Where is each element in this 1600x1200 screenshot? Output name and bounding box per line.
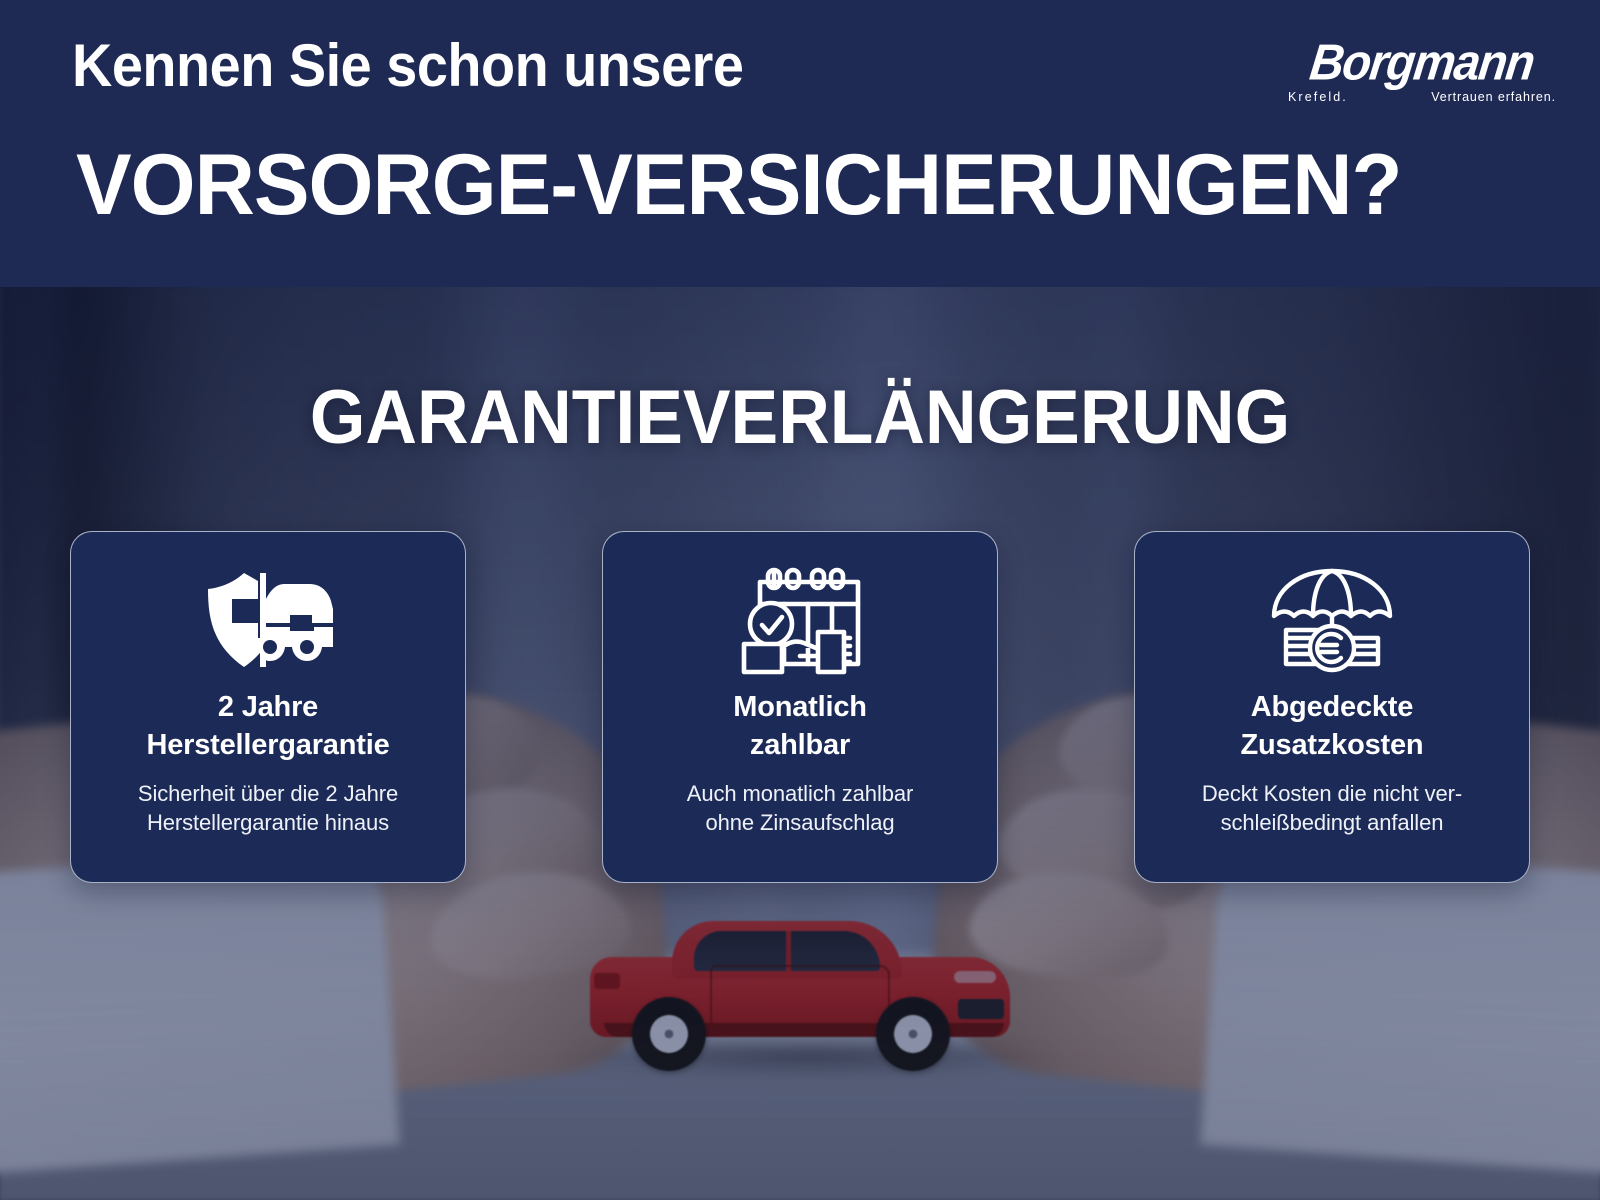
header-bar: Kennen Sie schon unsere VORSORGE-VERSICH… xyxy=(0,0,1600,287)
feature-card-title: Abgedeckte Zusatzkosten xyxy=(1241,688,1424,765)
feature-card-title: Monatlich zahlbar xyxy=(733,688,867,765)
feature-card-description: Auch monatlich zahlbar ohne Zinsaufschla… xyxy=(687,779,913,838)
logo-wordmark: Borgmann xyxy=(1285,36,1559,87)
feature-card-title: 2 Jahre Herstellergarantie xyxy=(146,688,389,765)
umbrella-coins-euro-icon xyxy=(1268,562,1396,680)
logo-tagline: Krefeld. Vertrauen erfahren. xyxy=(1288,90,1556,104)
logo-tagline-city: Krefeld. xyxy=(1288,90,1348,104)
feature-card-row: 2 Jahre Herstellergarantie Sicherheit üb… xyxy=(70,531,1530,901)
header-title: VORSORGE-VERSICHERUNGEN? xyxy=(76,140,1402,230)
feature-card-warranty[interactable]: 2 Jahre Herstellergarantie Sicherheit üb… xyxy=(70,531,466,883)
header-kicker: Kennen Sie schon unsere xyxy=(72,34,744,97)
feature-card-description: Deckt Kosten die nicht ver- schleißbedin… xyxy=(1202,779,1462,838)
feature-card-monthly-payment[interactable]: Monatlich zahlbar Auch monatlich zahlbar… xyxy=(602,531,998,883)
calendar-check-money-icon xyxy=(738,562,862,680)
borgmann-logo[interactable]: Borgmann Krefeld. Vertrauen erfahren. xyxy=(1288,38,1556,110)
feature-card-extra-costs[interactable]: Abgedeckte Zusatzkosten Deckt Kosten die… xyxy=(1134,531,1530,883)
hero-title: GARANTIEVERLÄNGERUNG xyxy=(48,378,1552,458)
shield-car-icon xyxy=(202,562,334,680)
promo-banner: Kennen Sie schon unsere VORSORGE-VERSICH… xyxy=(0,0,1600,1200)
logo-tagline-slogan: Vertrauen erfahren. xyxy=(1431,90,1556,104)
feature-card-description: Sicherheit über die 2 Jahre Herstellerga… xyxy=(138,779,398,838)
